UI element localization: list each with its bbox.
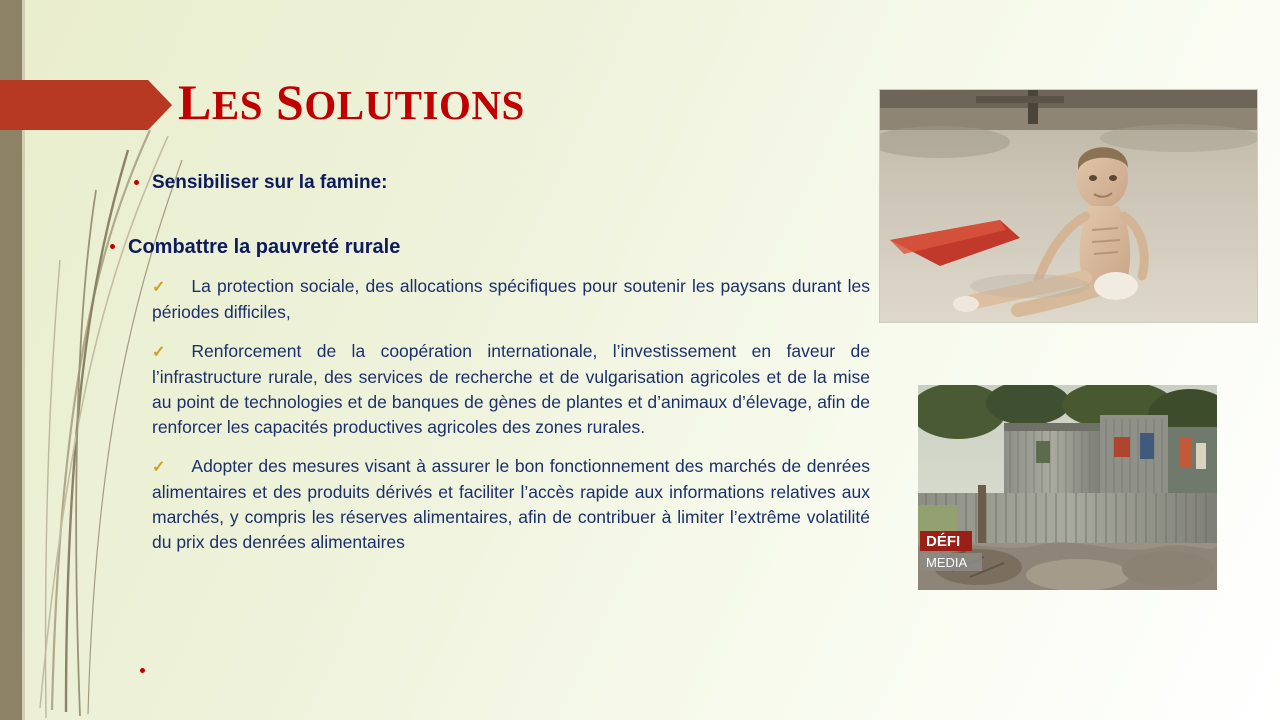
paragraph-protection-sociale: ✓La protection sociale, des allocations …	[152, 274, 870, 325]
bullet-dot-icon	[134, 180, 139, 185]
content-body: Sensibiliser sur la famine: Combattre la…	[120, 170, 870, 569]
check-icon: ✓	[152, 455, 165, 480]
bullet-combattre: Combattre la pauvreté rurale	[128, 234, 870, 260]
page-title-olutions: OLUTIONS	[304, 82, 524, 128]
page-title: LES SOLUTIONS	[178, 72, 818, 135]
watermark-line-1: DÉFI	[926, 533, 960, 550]
malnourished-child-photo	[879, 89, 1258, 323]
page-title-s: S	[263, 74, 304, 130]
paragraph-cooperation-internationale-text: Renforcement de la coopération internati…	[152, 341, 870, 437]
watermark-line-2: MEDIA	[926, 555, 968, 570]
check-icon: ✓	[152, 340, 165, 365]
paragraph-protection-sociale-text: La protection sociale, des allocations s…	[152, 276, 870, 322]
trailing-bullet-dot-icon	[140, 668, 145, 673]
bullet-sensibiliser: Sensibiliser sur la famine:	[152, 170, 870, 196]
slum-housing-photo: DÉFI MEDIA	[918, 385, 1217, 590]
check-icon: ✓	[152, 275, 165, 300]
title-banner-shape	[0, 80, 172, 130]
paragraph-marches-denrees: ✓Adopter des mesures visant à assurer le…	[152, 454, 870, 555]
page-title-letter-l: L	[178, 74, 212, 130]
slide-canvas: LES SOLUTIONS Sensibiliser sur la famine…	[0, 0, 1280, 720]
bullet-dot-icon	[110, 244, 115, 249]
bullet-sensibiliser-label: Sensibiliser sur la famine:	[152, 172, 387, 193]
bullet-combattre-label: Combattre la pauvreté rurale	[128, 236, 400, 258]
page-title-es: ES	[212, 82, 263, 128]
paragraph-cooperation-internationale: ✓Renforcement de la coopération internat…	[152, 339, 870, 440]
paragraph-marches-denrees-text: Adopter des mesures visant à assurer le …	[152, 456, 870, 552]
